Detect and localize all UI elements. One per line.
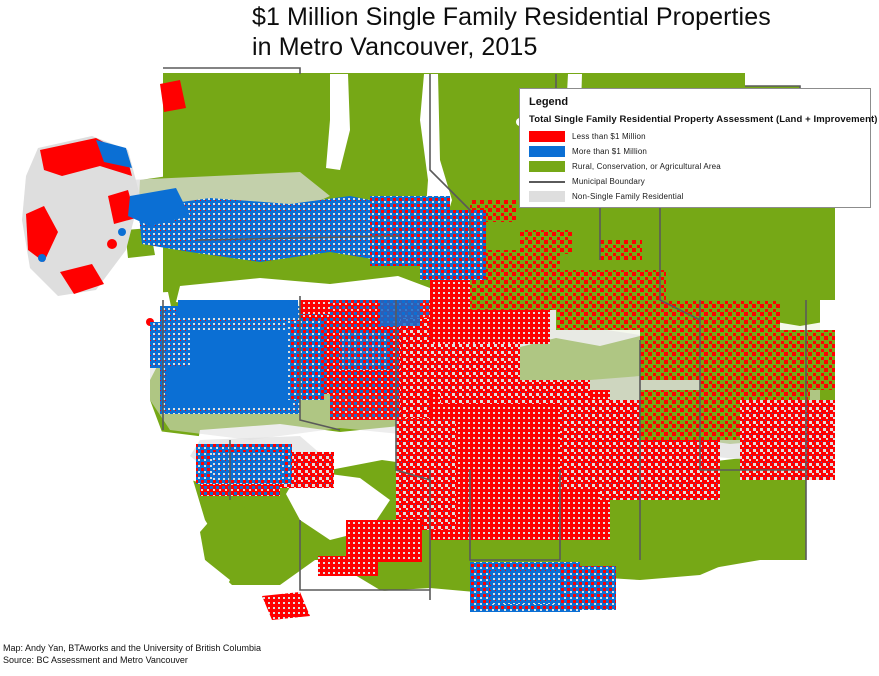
map-credits: Map: Andy Yan, BTAworks and the Universi… <box>3 643 261 666</box>
legend-item-non-sfr: Non-Single Family Residential <box>529 190 861 203</box>
swatch-red <box>529 131 565 142</box>
legend-heading: Legend <box>529 96 861 108</box>
map-legend: Legend Total Single Family Residential P… <box>519 88 871 208</box>
legend-item-less-than-1m: Less than $1 Million <box>529 130 861 143</box>
swatch-blue <box>529 146 565 157</box>
legend-label-less-than-1m: Less than $1 Million <box>572 132 646 141</box>
legend-item-municipal-boundary: Municipal Boundary <box>529 175 861 188</box>
page-title: $1 Million Single Family Residential Pro… <box>252 2 872 62</box>
title-line-2: in Metro Vancouver, 2015 <box>252 32 872 62</box>
legend-subtitle: Total Single Family Residential Property… <box>529 114 861 125</box>
swatch-gray <box>529 191 565 202</box>
swatch-green <box>529 161 565 172</box>
credit-map-author: Map: Andy Yan, BTAworks and the Universi… <box>3 643 261 655</box>
title-line-1: $1 Million Single Family Residential Pro… <box>252 2 872 32</box>
legend-label-more-than-1m: More than $1 Million <box>572 147 647 156</box>
legend-label-non-sfr: Non-Single Family Residential <box>572 192 684 201</box>
legend-label-municipal-boundary: Municipal Boundary <box>572 177 645 186</box>
credit-source: Source: BC Assessment and Metro Vancouve… <box>3 655 261 667</box>
legend-label-rural: Rural, Conservation, or Agricultural Are… <box>572 162 721 171</box>
legend-item-more-than-1m: More than $1 Million <box>529 145 861 158</box>
legend-item-rural: Rural, Conservation, or Agricultural Are… <box>529 160 861 173</box>
line-symbol-boundary <box>529 176 565 187</box>
